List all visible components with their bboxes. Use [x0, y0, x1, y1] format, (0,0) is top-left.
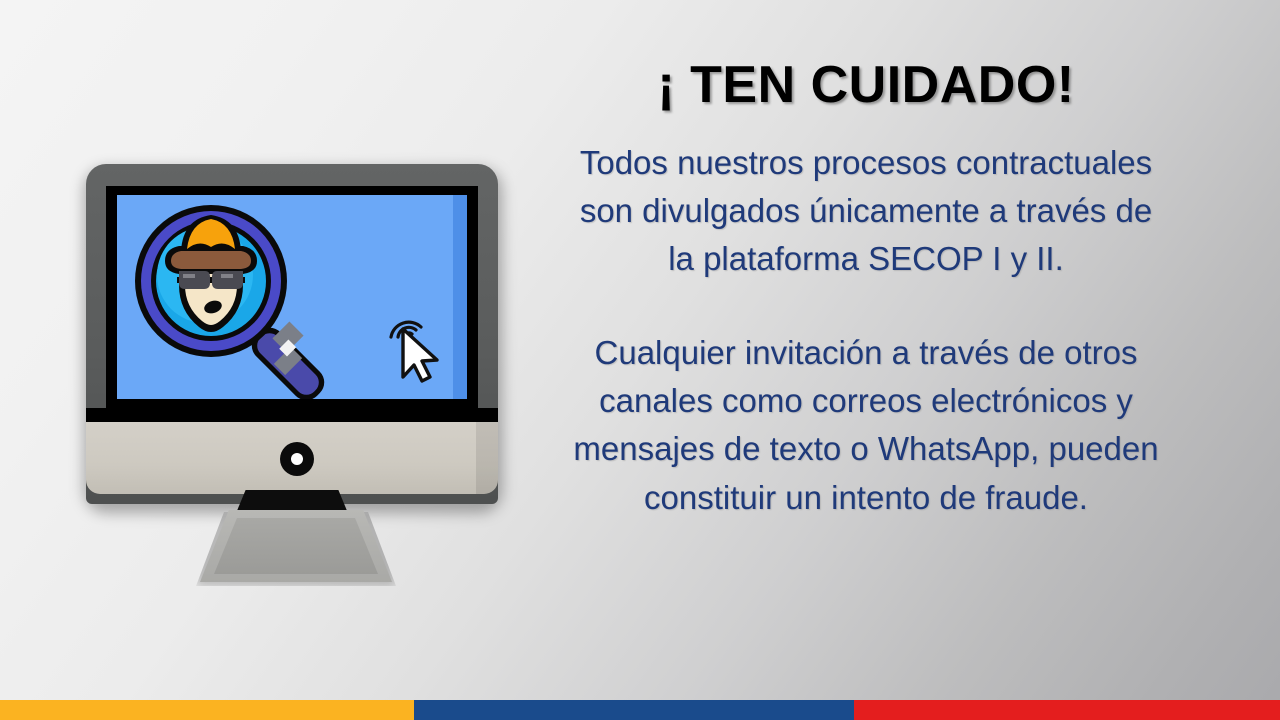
screen-edge-strip	[453, 195, 467, 399]
monitor-base-panel	[86, 422, 498, 494]
paragraph-spacer	[556, 283, 1176, 329]
click-cursor-icon	[373, 307, 445, 383]
monitor-screen	[117, 195, 467, 399]
paragraph-secop-platforms: Todos nuestros procesos contractuales so…	[556, 139, 1176, 284]
monitor-mid-band	[86, 408, 498, 422]
paragraph-fraud-warning: Cualquier invitación a través de otros c…	[556, 329, 1176, 522]
text-column: ¡ TEN CUIDADO! Todos nuestros procesos c…	[556, 58, 1176, 522]
magnifier-spy-icon	[133, 203, 363, 399]
flag-stripe-red	[854, 700, 1280, 720]
computer-monitor-illustration	[78, 160, 508, 590]
page-title: ¡ TEN CUIDADO!	[556, 58, 1176, 113]
power-button-icon[interactable]	[280, 442, 314, 476]
colombian-flag-bar	[0, 700, 1280, 720]
slide-canvas: ¡ TEN CUIDADO! Todos nuestros procesos c…	[0, 0, 1280, 720]
power-indicator-dot	[291, 453, 303, 465]
monitor-stand-bevel	[214, 518, 378, 574]
flag-stripe-blue	[414, 700, 854, 720]
base-shading	[476, 422, 498, 494]
flag-stripe-yellow	[0, 700, 414, 720]
